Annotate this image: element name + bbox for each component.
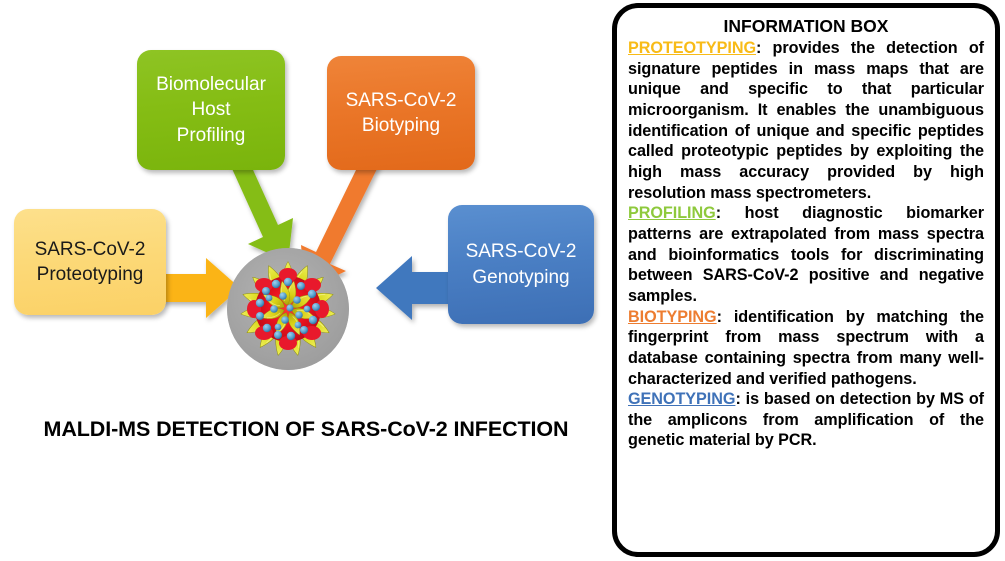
virion-graphic: [227, 248, 349, 370]
node-label: SARS-CoV-2 Biotyping: [346, 88, 457, 138]
infobox-entry-biotyping: BIOTYPING: identification by matching th…: [628, 307, 984, 390]
node-sars-cov-2-genotyping[interactable]: SARS-CoV-2 Genotyping: [448, 205, 594, 324]
node-biomolecular-host-profiling[interactable]: Biomolecular Host Profiling: [137, 50, 285, 170]
infobox-entry-proteotyping: PROTEOTYPING: provides the detection of …: [628, 38, 984, 203]
information-box-body: PROTEOTYPING: provides the detection of …: [628, 38, 984, 451]
keyword-profiling: PROFILING: [628, 204, 716, 222]
information-box-title: INFORMATION BOX: [628, 16, 984, 37]
sars-cov-2-virion-illustration: [227, 248, 349, 370]
keyword-proteotyping: PROTEOTYPING: [628, 39, 756, 57]
keyword-genotyping: GENOTYPING: [628, 390, 735, 408]
node-label: SARS-CoV-2 Genotyping: [466, 239, 577, 289]
node-label: SARS-CoV-2 Proteotyping: [35, 237, 146, 287]
entry-text: : provides the detection of signature pe…: [628, 39, 984, 202]
node-label: Biomolecular Host Profiling: [156, 72, 266, 147]
infobox-entry-genotyping: GENOTYPING: is based on detection by MS …: [628, 389, 984, 451]
node-sars-cov-2-biotyping[interactable]: SARS-CoV-2 Biotyping: [327, 56, 475, 170]
arrow-genotyping: [376, 256, 452, 320]
figure-caption: MALDI-MS DETECTION OF SARS-CoV-2 INFECTI…: [8, 417, 604, 442]
figure-canvas: Biomolecular Host Profiling SARS-CoV-2 B…: [0, 0, 1005, 561]
infobox-entry-profiling: PROFILING: host diagnostic biomarker pat…: [628, 203, 984, 306]
information-box: INFORMATION BOX PROTEOTYPING: provides t…: [612, 3, 1000, 557]
node-sars-cov-2-proteotyping[interactable]: SARS-CoV-2 Proteotyping: [14, 209, 166, 315]
keyword-biotyping: BIOTYPING: [628, 308, 717, 326]
diagram-panel: Biomolecular Host Profiling SARS-CoV-2 B…: [0, 0, 610, 561]
